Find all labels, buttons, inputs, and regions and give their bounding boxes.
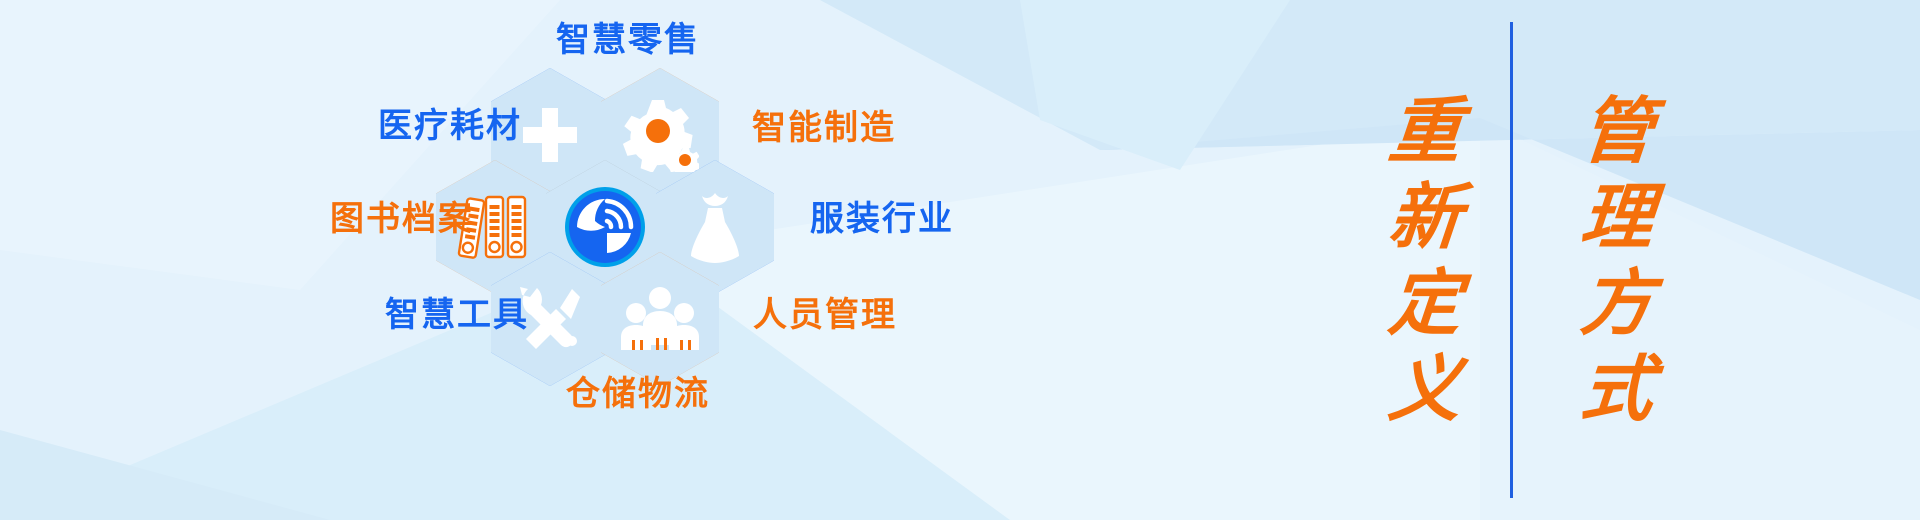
banner-canvas: 智慧零售 医疗耗材 智能制造 图书档案 服装行业 智慧工具 人员管理 仓储物流 …: [0, 0, 1920, 520]
slogan-left-char: 定: [1386, 267, 1464, 339]
slogan-divider: [1510, 22, 1513, 498]
slogan-right-column: 管 理 方 式: [1542, 0, 1692, 520]
slogan-left-char: 义: [1386, 353, 1464, 425]
label-hr: 人员管理: [753, 287, 897, 336]
slogan-right-char: 理: [1578, 181, 1656, 253]
slogan-left-char: 重: [1386, 95, 1464, 167]
slogan-right-char: 方: [1578, 267, 1656, 339]
label-books: 图书档案: [330, 191, 474, 240]
slogan-right-char: 管: [1578, 95, 1656, 167]
label-logistics: 仓储物流: [566, 366, 710, 415]
slogan-left-char: 新: [1386, 181, 1464, 253]
people-group-icon: [620, 286, 700, 352]
label-medical: 医疗耗材: [378, 98, 522, 147]
slogan-right-char: 式: [1578, 353, 1656, 425]
label-tools: 智慧工具: [385, 287, 529, 336]
label-retail: 智慧零售: [556, 12, 700, 61]
slogan-left-column: 重 新 定 义: [1350, 0, 1500, 520]
slogan-block: 重 新 定 义 管 理 方 式: [1320, 0, 1740, 520]
label-apparel: 服装行业: [810, 191, 954, 240]
label-manufacturing: 智能制造: [752, 100, 896, 149]
